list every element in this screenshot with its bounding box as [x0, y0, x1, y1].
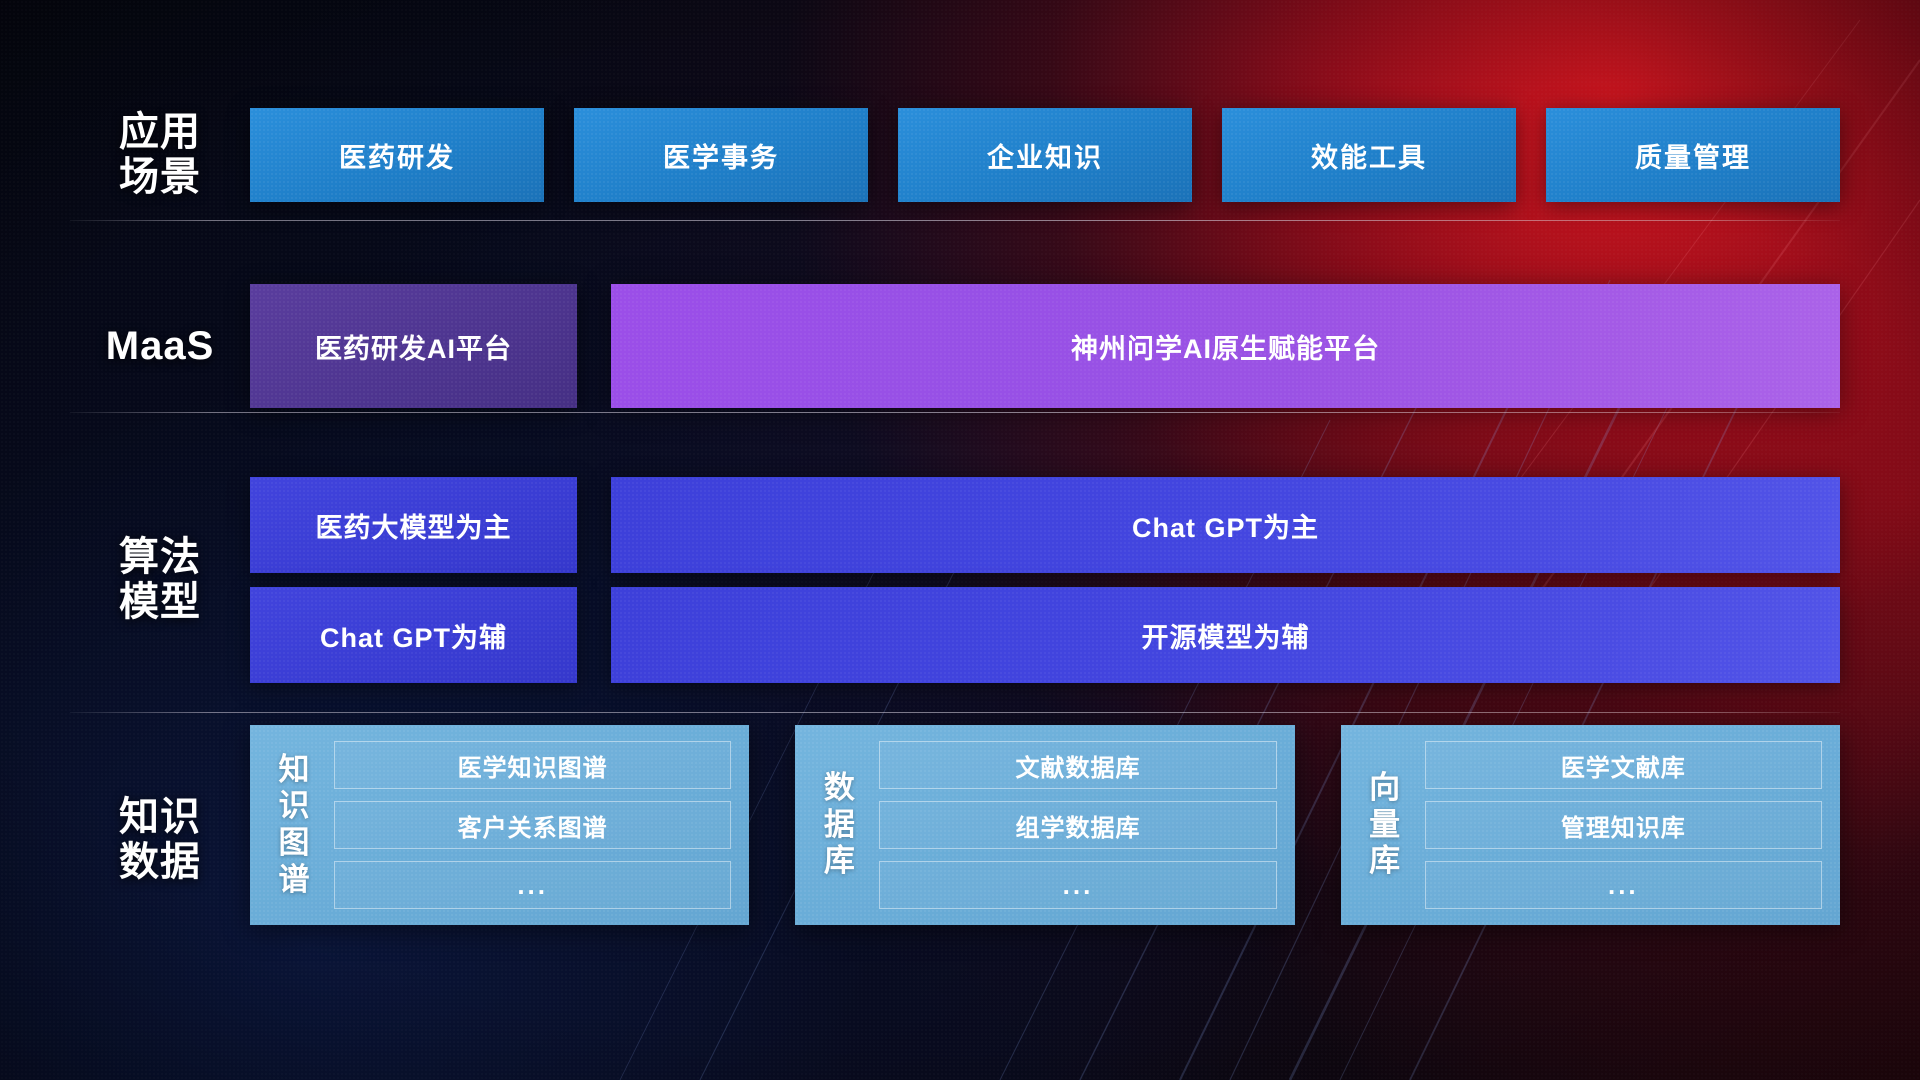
knowledge-item-omics-database[interactable]: 组学数据库 [879, 801, 1276, 849]
knowledge-item-customer-relation-graph[interactable]: 客户关系图谱 [334, 801, 731, 849]
divider-maas-algo [70, 412, 1840, 413]
algo-card-pharma-llm-primary[interactable]: 医药大模型为主 [250, 477, 577, 573]
knowledge-item-more-vector-store[interactable]: ... [1425, 861, 1822, 909]
app-card-quality-management[interactable]: 质量管理 [1546, 108, 1840, 202]
app-card-medical-affairs[interactable]: 医学事务 [574, 108, 868, 202]
knowledge-item-literature-database[interactable]: 文献数据库 [879, 741, 1276, 789]
algo-card-chatgpt-primary[interactable]: Chat GPT为主 [611, 477, 1840, 573]
row-algorithm-models: 算法 模型 医药大模型为主 Chat GPT为主 Chat GPT为辅 开源模型… [70, 460, 1840, 700]
knowledge-items-knowledge-graph: 医学知识图谱 客户关系图谱 ... [334, 741, 731, 909]
knowledge-item-medical-knowledge-graph[interactable]: 医学知识图谱 [334, 741, 731, 789]
maas-cards: 医药研发AI平台 神州问学AI原生赋能平台 [250, 284, 1840, 408]
app-card-drug-rd[interactable]: 医药研发 [250, 108, 544, 202]
row-label-knowledge-data: 知识 数据 [70, 725, 250, 885]
algorithm-line-primary: 医药大模型为主 Chat GPT为主 [250, 477, 1840, 573]
knowledge-item-management-knowledge-store[interactable]: 管理知识库 [1425, 801, 1822, 849]
knowledge-item-more-knowledge-graph[interactable]: ... [334, 861, 731, 909]
row-label-algorithm-models: 算法 模型 [70, 535, 250, 625]
knowledge-item-medical-literature-store[interactable]: 医学文献库 [1425, 741, 1822, 789]
algo-card-chatgpt-secondary[interactable]: Chat GPT为辅 [250, 587, 577, 683]
row-knowledge-data: 知识 数据 知识图谱 医学知识图谱 客户关系图谱 ... 数据库 文献数据库 组… [70, 725, 1840, 975]
app-card-enterprise-knowledge[interactable]: 企业知识 [898, 108, 1192, 202]
knowledge-items-database: 文献数据库 组学数据库 ... [879, 741, 1276, 909]
knowledge-group-database[interactable]: 数据库 文献数据库 组学数据库 ... [795, 725, 1294, 925]
divider-algo-knowledge [70, 712, 1840, 713]
knowledge-group-title-database: 数据库 [813, 741, 865, 909]
knowledge-group-knowledge-graph[interactable]: 知识图谱 医学知识图谱 客户关系图谱 ... [250, 725, 749, 925]
knowledge-items-vector-store: 医学文献库 管理知识库 ... [1425, 741, 1822, 909]
row-application-scenarios: 应用 场景 医药研发 医学事务 企业知识 效能工具 质量管理 [70, 100, 1840, 210]
knowledge-group-title-vector-store: 向量库 [1359, 741, 1411, 909]
row-label-application-scenarios: 应用 场景 [70, 110, 250, 200]
app-card-efficiency-tools[interactable]: 效能工具 [1222, 108, 1516, 202]
knowledge-group-vector-store[interactable]: 向量库 医学文献库 管理知识库 ... [1341, 725, 1840, 925]
divider-apps-maas [70, 220, 1840, 221]
maas-card-drug-rd-ai-platform[interactable]: 医药研发AI平台 [250, 284, 577, 408]
maas-card-shenzhou-wenxue-platform[interactable]: 神州问学AI原生赋能平台 [611, 284, 1840, 408]
application-scenario-cards: 医药研发 医学事务 企业知识 效能工具 质量管理 [250, 108, 1840, 202]
knowledge-group-title-knowledge-graph: 知识图谱 [268, 741, 320, 909]
row-label-maas: MaaS [70, 324, 250, 369]
row-maas: MaaS 医药研发AI平台 神州问学AI原生赋能平台 [70, 290, 1840, 402]
algorithm-line-secondary: Chat GPT为辅 开源模型为辅 [250, 587, 1840, 683]
knowledge-item-more-database[interactable]: ... [879, 861, 1276, 909]
knowledge-groups: 知识图谱 医学知识图谱 客户关系图谱 ... 数据库 文献数据库 组学数据库 .… [250, 725, 1840, 925]
algo-card-opensource-secondary[interactable]: 开源模型为辅 [611, 587, 1840, 683]
architecture-diagram: 应用 场景 医药研发 医学事务 企业知识 效能工具 质量管理 MaaS 医药研发… [0, 0, 1920, 1080]
algorithm-model-cards: 医药大模型为主 Chat GPT为主 Chat GPT为辅 开源模型为辅 [250, 477, 1840, 683]
